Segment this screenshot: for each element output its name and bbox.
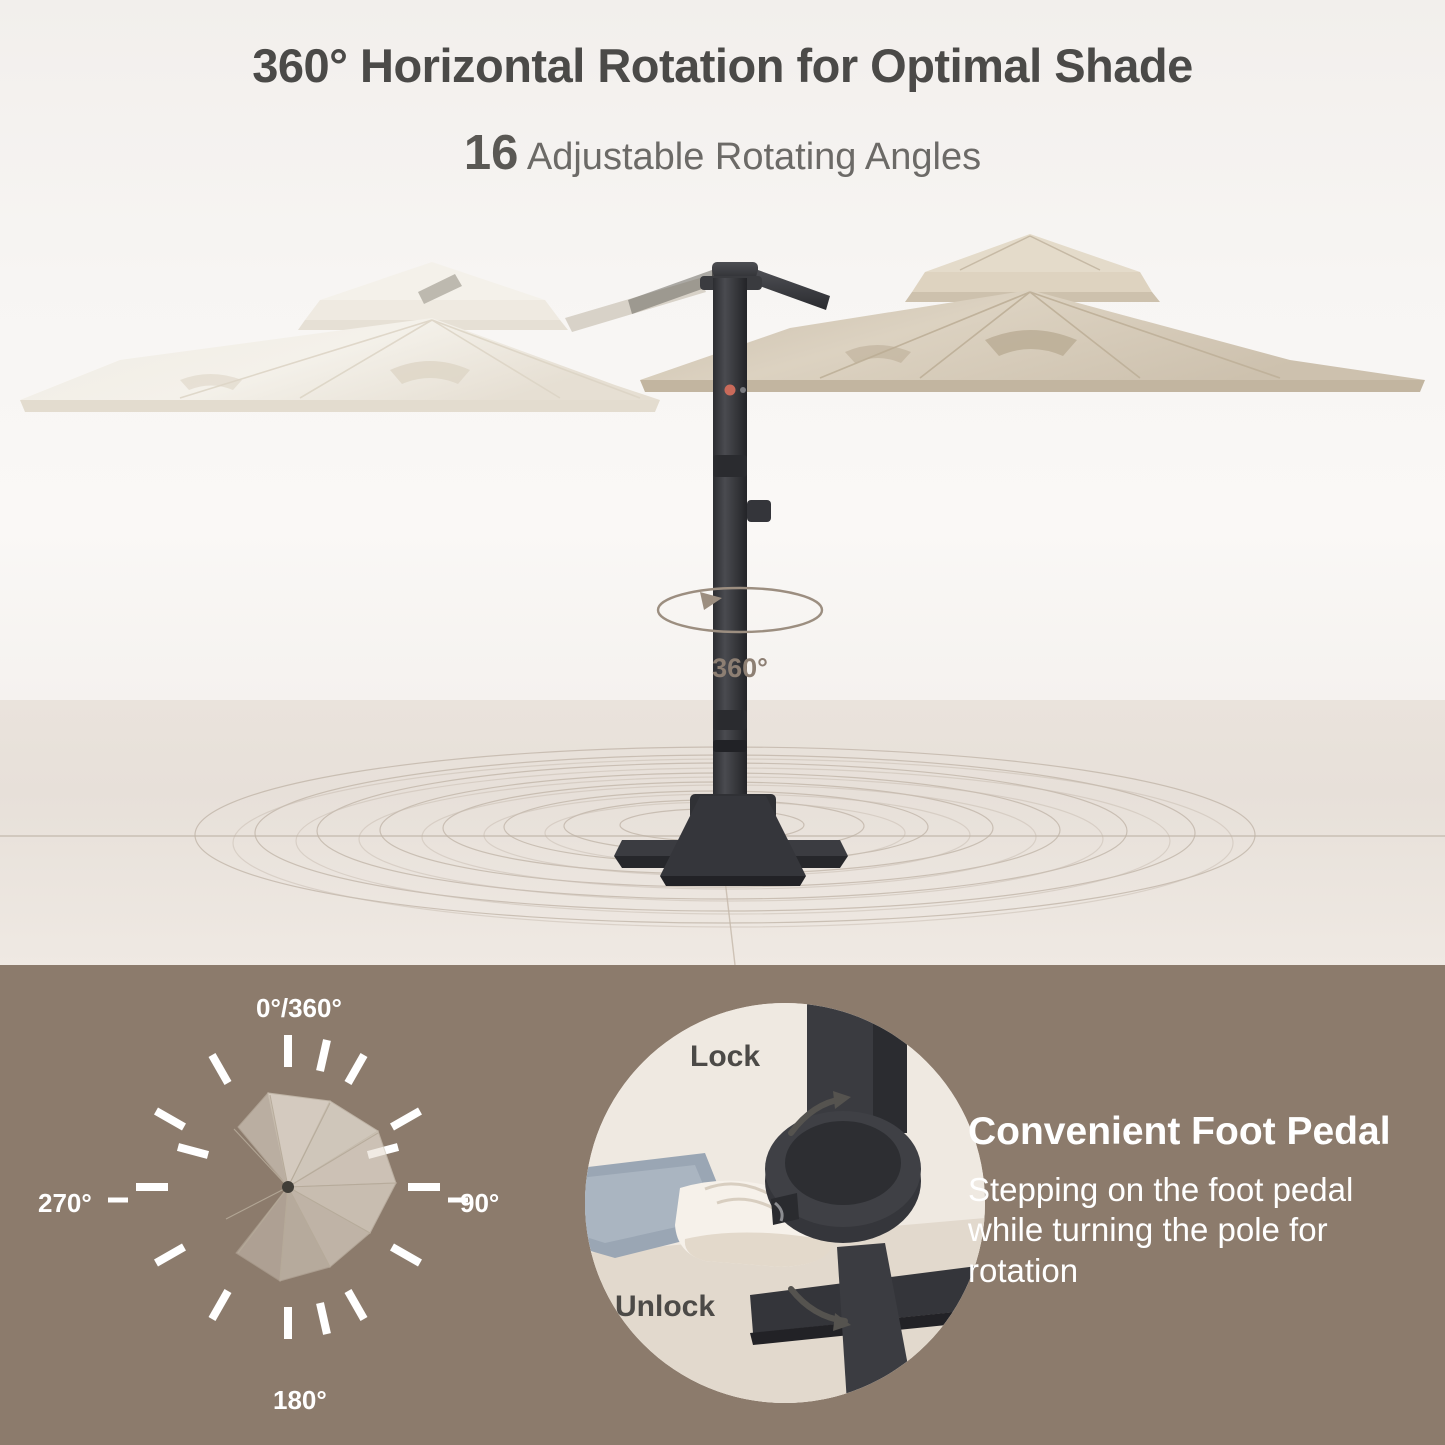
rotation-badge-label: 360° — [660, 653, 820, 684]
subtitle-text: Adjustable Rotating Angles — [518, 136, 981, 178]
page-title: 360° Horizontal Rotation for Optimal Sha… — [0, 38, 1445, 93]
unlock-label: Unlock — [615, 1290, 715, 1324]
angle-count: 16 — [464, 126, 519, 180]
dial-label-180: 180° — [273, 1385, 327, 1416]
dial-label-270: 270° — [38, 1188, 92, 1219]
left-canopy-main — [20, 318, 660, 412]
right-canopy-main — [640, 290, 1425, 392]
subtitle: 16 Adjustable Rotating Angles — [0, 125, 1445, 181]
feature-description: Stepping on the foot pedal while turning… — [968, 1170, 1423, 1291]
foot-pedal-photo — [585, 1003, 985, 1403]
rotation-dial: 0°/360° 90° 180° 270° — [30, 975, 550, 1445]
umbrella-cross-base — [614, 794, 848, 886]
cantilever-umbrella-illustration — [0, 200, 1445, 900]
feature-title: Convenient Foot Pedal — [968, 1110, 1391, 1154]
rotation-badge: 360° — [660, 620, 820, 690]
dial-label-90: 90° — [460, 1188, 499, 1219]
dial-label-0: 0°/360° — [256, 993, 342, 1024]
product-infographic: 360° Horizontal Rotation for Optimal Sha… — [0, 0, 1445, 1445]
bottom-section: 0°/360° 90° 180° 270° — [0, 965, 1445, 1445]
lock-label: Lock — [690, 1040, 760, 1074]
dial-umbrella-fan — [226, 1093, 396, 1281]
foot-pedal-photo-graphic — [585, 1003, 985, 1403]
